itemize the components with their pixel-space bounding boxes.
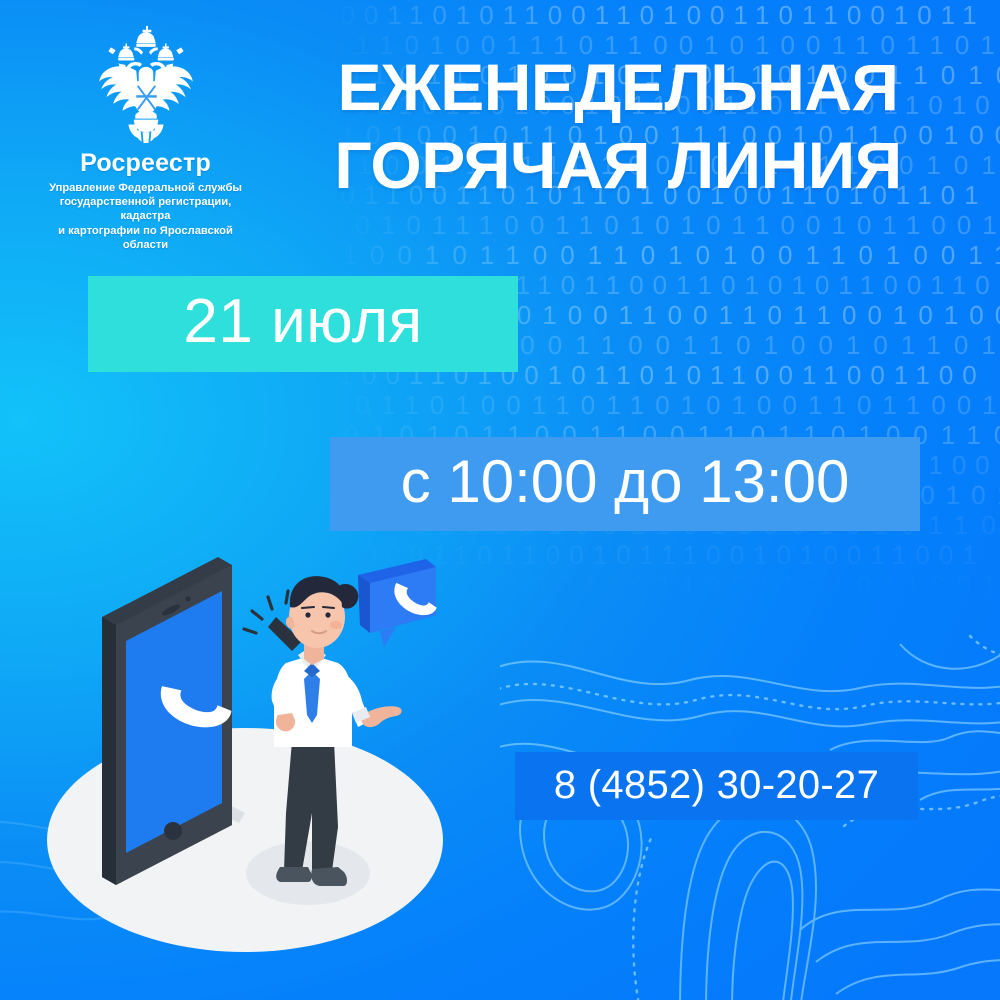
- date-badge-text: 21 июля: [183, 291, 422, 357]
- time-badge-text: с 10:00 до 13:00: [401, 452, 850, 516]
- logo-subtitle: Управление Федеральной службы государств…: [38, 181, 253, 252]
- logo-title: Росреестр: [38, 149, 253, 178]
- phone-badge-text: 8 (4852) 30-20-27: [554, 765, 879, 808]
- headline-line-2: ГОРЯЧАЯ ЛИНИЯ: [268, 126, 968, 204]
- hotline-poster: 1001101011001101001101100101101101001110…: [0, 0, 1000, 1000]
- russian-double-headed-eagle-emblem-icon: [87, 22, 205, 144]
- poster-headline: ЕЖЕНЕДЕЛЬНАЯ ГОРЯЧАЯ ЛИНИЯ: [268, 48, 968, 204]
- man-calling-hotline-illustration: [40, 555, 460, 965]
- headline-line-1: ЕЖЕНЕДЕЛЬНАЯ: [338, 50, 899, 124]
- logo-subtitle-line-1: Управление Федеральной службы: [38, 181, 253, 195]
- binary-row: 00101110011010101100101100101: [330, 210, 1000, 240]
- logo-subtitle-line-2: государственной регистрации, кадастра: [38, 195, 253, 223]
- date-badge: 21 июля: [88, 276, 518, 372]
- time-badge: с 10:00 до 13:00: [330, 437, 920, 531]
- speech-bubble-with-phone-icon: [358, 559, 438, 647]
- phone-badge: 8 (4852) 30-20-27: [515, 752, 918, 820]
- binary-row: 10011010110011010011011001011: [330, 0, 1000, 30]
- rosreestr-logo: Росреестр Управление Федеральной службы …: [38, 22, 253, 252]
- binary-row: 00110100110110101001101100101: [330, 390, 1000, 420]
- logo-subtitle-line-3: и картографии по Ярославской области: [38, 224, 253, 252]
- binary-row: 11001011001101010011010011011: [330, 240, 1000, 270]
